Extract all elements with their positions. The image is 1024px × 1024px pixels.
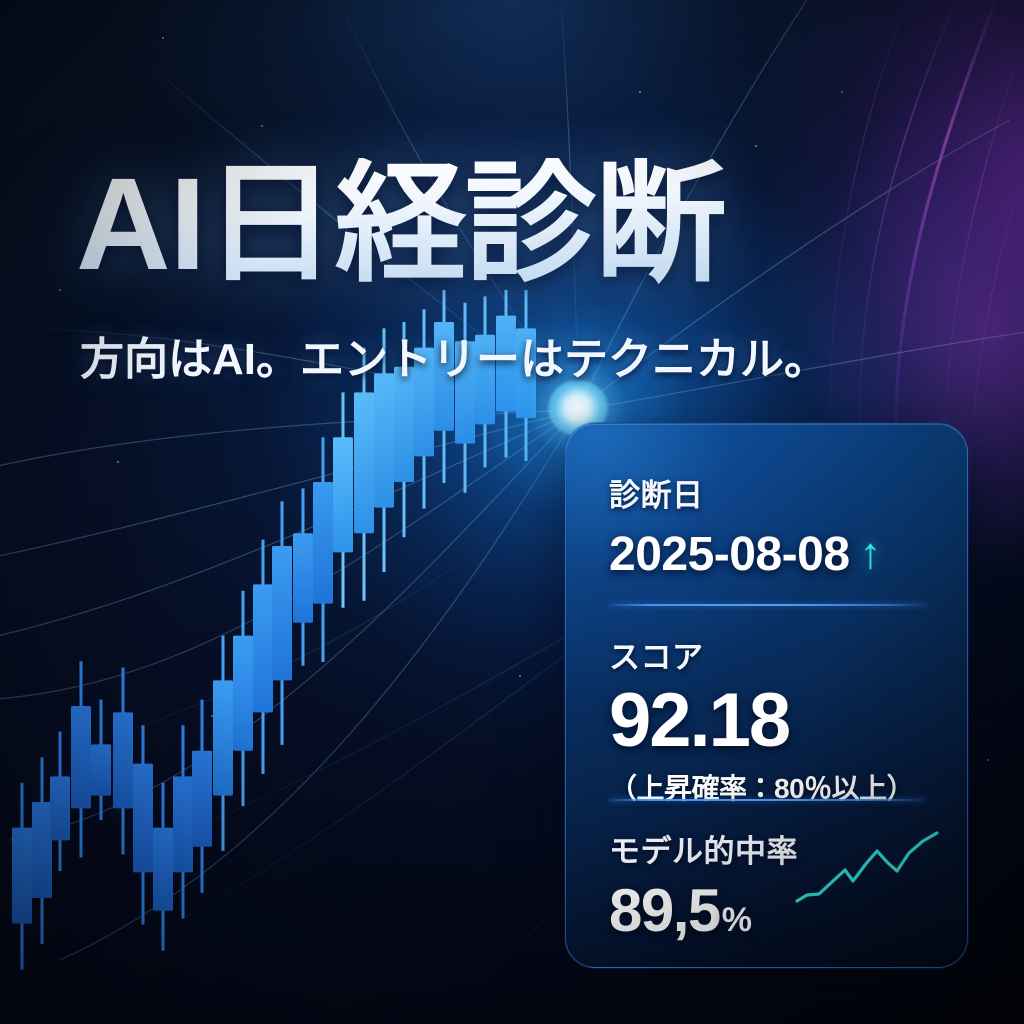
model-hit-rate-number: 89,5	[609, 877, 720, 944]
diagnosis-date-text: 2025-08-08	[609, 528, 850, 581]
trend-up-arrow-icon: ↑	[860, 529, 882, 578]
metric-note-score: （上昇確率：80％以上）	[609, 767, 914, 807]
light-burst-glow	[578, 408, 580, 410]
metric-label-model-hit-rate: モデル的中率	[609, 826, 798, 871]
model-accuracy-sparkline	[793, 829, 943, 909]
metric-label-score: スコア	[609, 632, 914, 677]
metric-model-hit-rate: モデル的中率 89,5%	[609, 826, 798, 941]
card-divider-2	[609, 799, 926, 801]
page-subtitle: 方向はAI。エントリーはテクニカル。	[80, 336, 828, 384]
metric-label-diagnosis-date: 診断日	[609, 470, 881, 515]
metric-value-model-hit-rate: 89,5%	[609, 881, 798, 941]
metric-diagnosis-date: 診断日 2025-08-08↑	[609, 470, 881, 582]
diagnosis-card: 診断日 2025-08-08↑ スコア 92.18 （上昇確率：80％以上） モ…	[565, 423, 968, 968]
metric-score: スコア 92.18 （上昇確率：80％以上）	[609, 632, 914, 807]
card-divider-1	[609, 604, 926, 606]
percent-symbol: %	[722, 901, 751, 939]
page-title: AI日経診断	[76, 158, 725, 289]
poster-canvas: AI日経診断 方向はAI。エントリーはテクニカル。 診断日 2025-08-08…	[0, 0, 1024, 1024]
metric-value-score: 92.18	[609, 683, 914, 759]
metric-value-diagnosis-date: 2025-08-08↑	[609, 527, 881, 582]
